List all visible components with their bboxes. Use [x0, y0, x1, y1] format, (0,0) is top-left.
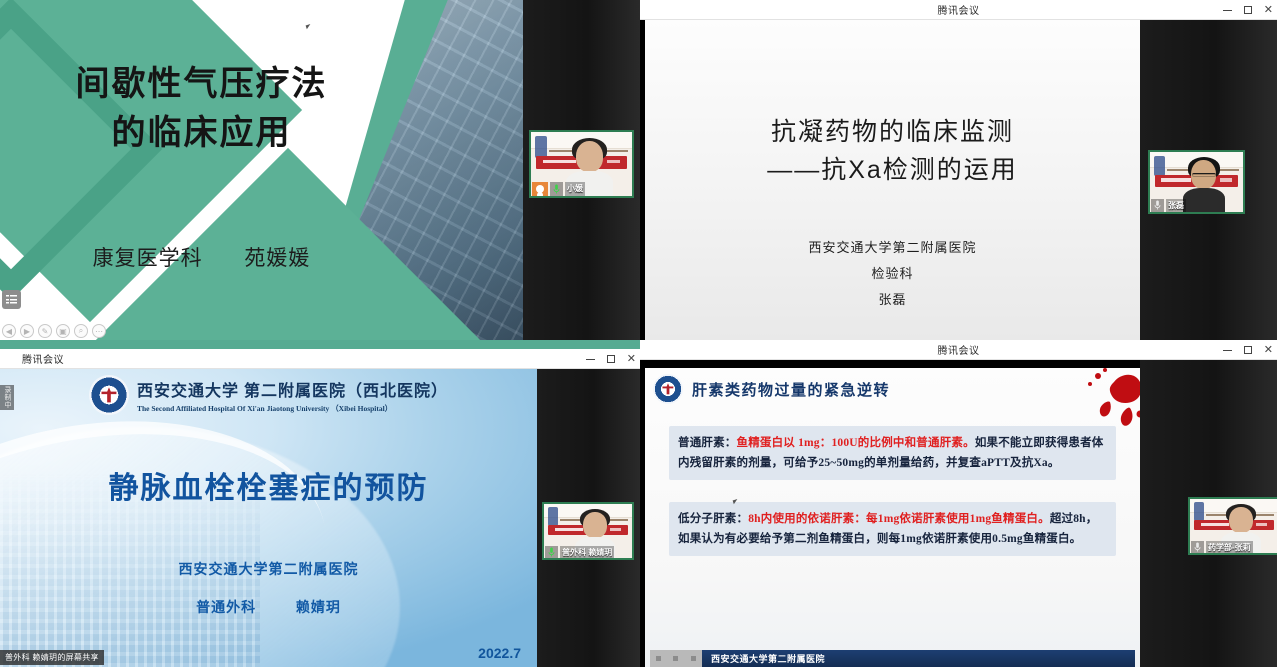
slide2-title-line2: ——抗Xa检测的运用 [645, 152, 1140, 190]
participant-namebar: 药学部-张莉 [1190, 541, 1277, 553]
slide-canvas-2: 抗凝药物的临床监测 ——抗Xa检测的运用 西安交通大学第二附属医院 检验科 张磊 [645, 20, 1140, 340]
video-thumbnail-4[interactable]: 药学部-张莉 [1188, 497, 1277, 555]
slide4-title: 肝素类药物过量的紧急逆转 [692, 379, 890, 400]
head-shape [583, 512, 607, 538]
slide4-paragraph-1: 普通肝素：鱼精蛋白以 1mg：100U的比例中和普通肝素。如果不能立即获得患者体… [669, 426, 1116, 480]
video-strip-2: 张磊 [1140, 20, 1277, 340]
slide2-dept: 检验科 [645, 261, 1140, 287]
maximize-button[interactable] [607, 355, 615, 363]
slide3-dept: 普通外科 [196, 599, 256, 615]
pen-icon[interactable]: ✎ [38, 324, 52, 338]
slide4-header: 肝素类药物过量的紧急逆转 [653, 374, 1132, 404]
close-button[interactable]: ✕ [627, 354, 636, 365]
ppt-playback-toolbar[interactable]: ◀ ▶ ✎ ▣ ⌕ ⋯ [2, 324, 106, 338]
presenter-label: 苑媛媛 [244, 247, 310, 270]
footer-tab-marks [650, 650, 702, 667]
video-strip-3: 普外科 赖婧玥 [537, 369, 640, 667]
slide-canvas-1: 间歇性气压疗法 的临床应用 康复医学科 苑媛媛 [0, 0, 523, 340]
green-strip-top [0, 340, 640, 349]
header-chinese: 西安交通大学 第二附属医院（西北医院） [137, 377, 448, 401]
quadrant-2-anticoagulant-monitoring: 腾讯会议 ✕ 抗凝药物的临床监测 ——抗Xa检测的运用 西安交通大学第二附属医院… [640, 0, 1277, 340]
blood-splatter-icon [1074, 368, 1140, 432]
p1-label: 普通肝素： [678, 437, 737, 449]
slide3-org: 西安交通大学第二附属医院 [0, 559, 537, 579]
slide-canvas-4: 肝素类药物过量的紧急逆转 普通肝素：鱼精蛋白以 1mg：100U的比例中和普通肝… [645, 368, 1140, 667]
slide3-year: 2022.7 [478, 645, 521, 661]
zoom-icon[interactable]: ⌕ [74, 324, 88, 338]
slide-title-1: 间歇性气压疗法 的临床应用 [0, 60, 403, 159]
participant-name: 普外科 赖婧玥 [560, 546, 614, 558]
quadrant-3-vte-prevention: 腾讯会议 ✕ 西安交通大学 第二附属医院（西北医院） The Second Af… [0, 340, 640, 667]
slide2-presenter: 张磊 [645, 287, 1140, 313]
university-seal-icon [653, 374, 683, 404]
video-thumbnail-2[interactable]: 张磊 [1148, 150, 1245, 214]
university-seal-icon [89, 375, 129, 415]
slide-canvas-3: 西安交通大学 第二附属医院（西北医院） The Second Affiliate… [0, 369, 537, 667]
close-button[interactable]: ✕ [1264, 345, 1273, 356]
slide2-org: 西安交通大学第二附属医院 [645, 235, 1140, 261]
next-slide-icon[interactable]: ▶ [20, 324, 34, 338]
preview-logo-icon [1194, 502, 1205, 520]
ppt-menu-button[interactable] [2, 290, 21, 309]
avatar [532, 182, 548, 196]
list-menu-icon [6, 295, 17, 304]
quadrant-1-ipc-therapy: 间歇性气压疗法 的临床应用 康复医学科 苑媛媛 ◀ ▶ ✎ ▣ ⌕ ⋯ [0, 0, 640, 340]
video-strip-4: 药学部-张莉 [1140, 360, 1277, 667]
participant-namebar: 小媛 [531, 182, 632, 196]
slide3-presenter: 赖婧玥 [296, 599, 341, 615]
window-body-2: 抗凝药物的临床监测 ——抗Xa检测的运用 西安交通大学第二附属医院 检验科 张磊 [640, 20, 1277, 340]
preview-logo-icon [535, 136, 547, 158]
prev-slide-icon[interactable]: ◀ [2, 324, 16, 338]
quadrant-4-heparin-reversal: 腾讯会议 ✕ 肝素类药物过量的紧急逆转 [640, 340, 1277, 667]
slide3-presenter-line: 普通外科 赖婧玥 [0, 597, 537, 617]
minimize-button[interactable] [586, 359, 595, 360]
slide-presenter-line: 康复医学科 苑媛媛 [0, 242, 403, 272]
window-title: 腾讯会议 [938, 2, 980, 17]
slide-grid-icon[interactable]: ▣ [56, 324, 70, 338]
header-english: The Second Affiliated Hospital Of Xi'an … [137, 403, 448, 414]
titlebar-3: 腾讯会议 ✕ [0, 349, 640, 369]
participant-name: 张磊 [1166, 199, 1186, 212]
slide2-title-line1: 抗凝药物的临床监测 [645, 114, 1140, 152]
microphone-icon[interactable] [1151, 199, 1164, 212]
participant-namebar: 普外科 赖婧玥 [544, 546, 632, 558]
window-body-4: 肝素类药物过量的紧急逆转 普通肝素：鱼精蛋白以 1mg：100U的比例中和普通肝… [640, 360, 1277, 667]
participant-namebar: 张磊 [1150, 199, 1243, 212]
window-controls-2[interactable]: ✕ [1223, 0, 1273, 20]
p2-highlight: 8h内使用的依诺肝素：每1mg依诺肝素使用1mg鱼精蛋白。 [748, 513, 1050, 525]
video-thumbnail-1[interactable]: 小媛 [529, 130, 634, 198]
slide-title-2: 抗凝药物的临床监测 ——抗Xa检测的运用 [645, 114, 1140, 189]
head-shape [1229, 507, 1253, 533]
close-button[interactable]: ✕ [1264, 5, 1273, 16]
quad-screenshot-grid: 间歇性气压疗法 的临床应用 康复医学科 苑媛媛 ◀ ▶ ✎ ▣ ⌕ ⋯ [0, 0, 1277, 667]
video-strip-1: 小媛 [523, 0, 640, 340]
recording-status-chip: 录制中 [0, 385, 14, 410]
video-thumbnail-3[interactable]: 普外科 赖婧玥 [542, 502, 634, 560]
microphone-icon[interactable] [550, 182, 563, 196]
slide-title-line2: 的临床应用 [0, 109, 403, 158]
minimize-button[interactable] [1223, 350, 1232, 351]
slide2-affiliation-block: 西安交通大学第二附属医院 检验科 张磊 [645, 235, 1140, 313]
titlebar-2: 腾讯会议 ✕ [640, 0, 1277, 20]
window-title: 腾讯会议 [22, 351, 64, 366]
department-label: 康复医学科 [93, 247, 203, 270]
glasses-icon [1192, 173, 1215, 178]
maximize-button[interactable] [1244, 346, 1252, 354]
footer-text: 西安交通大学第二附属医院 [702, 652, 825, 665]
slide4-footer: 西安交通大学第二附属医院 [650, 650, 1135, 667]
slide-title-line1: 间歇性气压疗法 [0, 60, 403, 109]
microphone-icon[interactable] [545, 546, 558, 558]
window-title: 腾讯会议 [938, 342, 980, 357]
maximize-button[interactable] [1244, 6, 1252, 14]
window-body-3: 西安交通大学 第二附属医院（西北医院） The Second Affiliate… [0, 369, 640, 667]
slide3-title: 静脉血栓栓塞症的预防 [0, 463, 537, 507]
preview-logo-icon [1154, 156, 1165, 176]
slide4-paragraph-2: 低分子肝素：8h内使用的依诺肝素：每1mg依诺肝素使用1mg鱼精蛋白。超过8h，… [669, 502, 1116, 556]
participant-name: 小媛 [565, 182, 585, 196]
screen-share-status-chip: 普外科 赖婧玥的屏幕共享 [0, 650, 104, 665]
titlebar-4: 腾讯会议 ✕ [640, 340, 1277, 360]
participant-name: 药学部-张莉 [1206, 541, 1253, 553]
microphone-icon[interactable] [1191, 541, 1204, 553]
slide3-header: 西安交通大学 第二附属医院（西北医院） The Second Affiliate… [0, 375, 537, 415]
window-controls-3[interactable]: ✕ [586, 349, 636, 369]
minimize-button[interactable] [1223, 10, 1232, 11]
p2-label: 低分子肝素： [678, 513, 748, 525]
window-controls-4[interactable]: ✕ [1223, 340, 1273, 360]
preview-logo-icon [548, 507, 559, 525]
more-icon[interactable]: ⋯ [92, 324, 106, 338]
head-shape [576, 141, 603, 172]
p1-highlight: 鱼精蛋白以 1mg：100U的比例中和普通肝素。 [737, 437, 975, 449]
